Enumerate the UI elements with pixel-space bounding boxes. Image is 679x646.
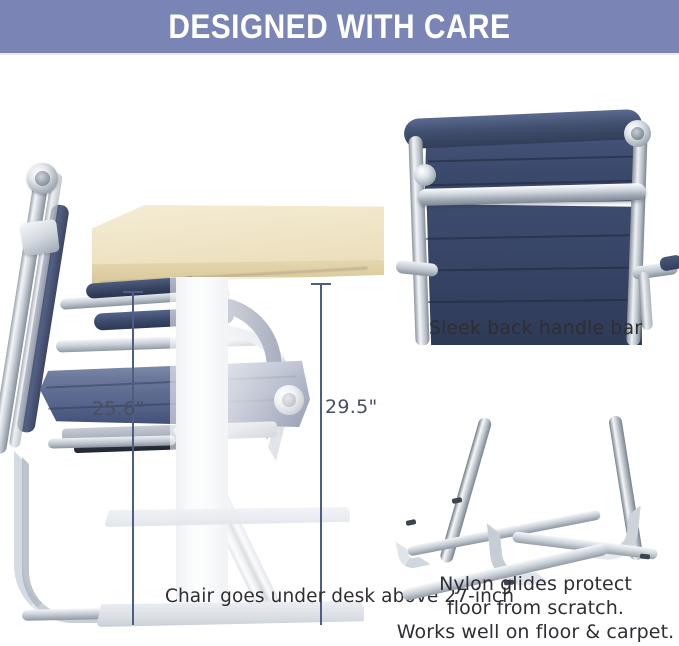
chair-seat <box>40 355 310 427</box>
backrest-bolt-right-center <box>631 127 644 140</box>
chair-back-illustration <box>392 58 679 345</box>
chair-back-adjustment-knob <box>20 219 60 256</box>
backrest-bolt-left-icon <box>414 164 436 186</box>
measurement-line-desk-clearance <box>320 283 322 625</box>
nylon-glide <box>640 553 650 559</box>
panel-sleek-back-handle-bar <box>392 58 679 345</box>
panel-chair-under-desk <box>0 55 388 646</box>
seat-bolt-center <box>282 393 296 407</box>
caption-sleek-back-handle-bar: Sleek back handle bar <box>392 316 679 340</box>
measurement-label-desk-clearance: 29.5" <box>325 396 378 418</box>
nylon-glide <box>406 519 417 526</box>
chair-desk-illustration <box>0 55 388 646</box>
desk-column-highlight <box>186 277 218 617</box>
armrest-right-pad <box>659 254 679 272</box>
chair-back-bolt-center <box>35 171 50 186</box>
measurement-label-seat-height: 25.6" <box>92 398 145 420</box>
page-title: DESIGNED WITH CARE <box>168 10 510 44</box>
caption-nylon-glides: Nylon glides protect floor from scratch.… <box>392 572 679 644</box>
header-banner: DESIGNED WITH CARE <box>0 0 679 53</box>
sled-tip-left <box>395 535 431 571</box>
desk-crossbar <box>104 507 350 527</box>
measurement-line-seat-height <box>132 291 134 625</box>
